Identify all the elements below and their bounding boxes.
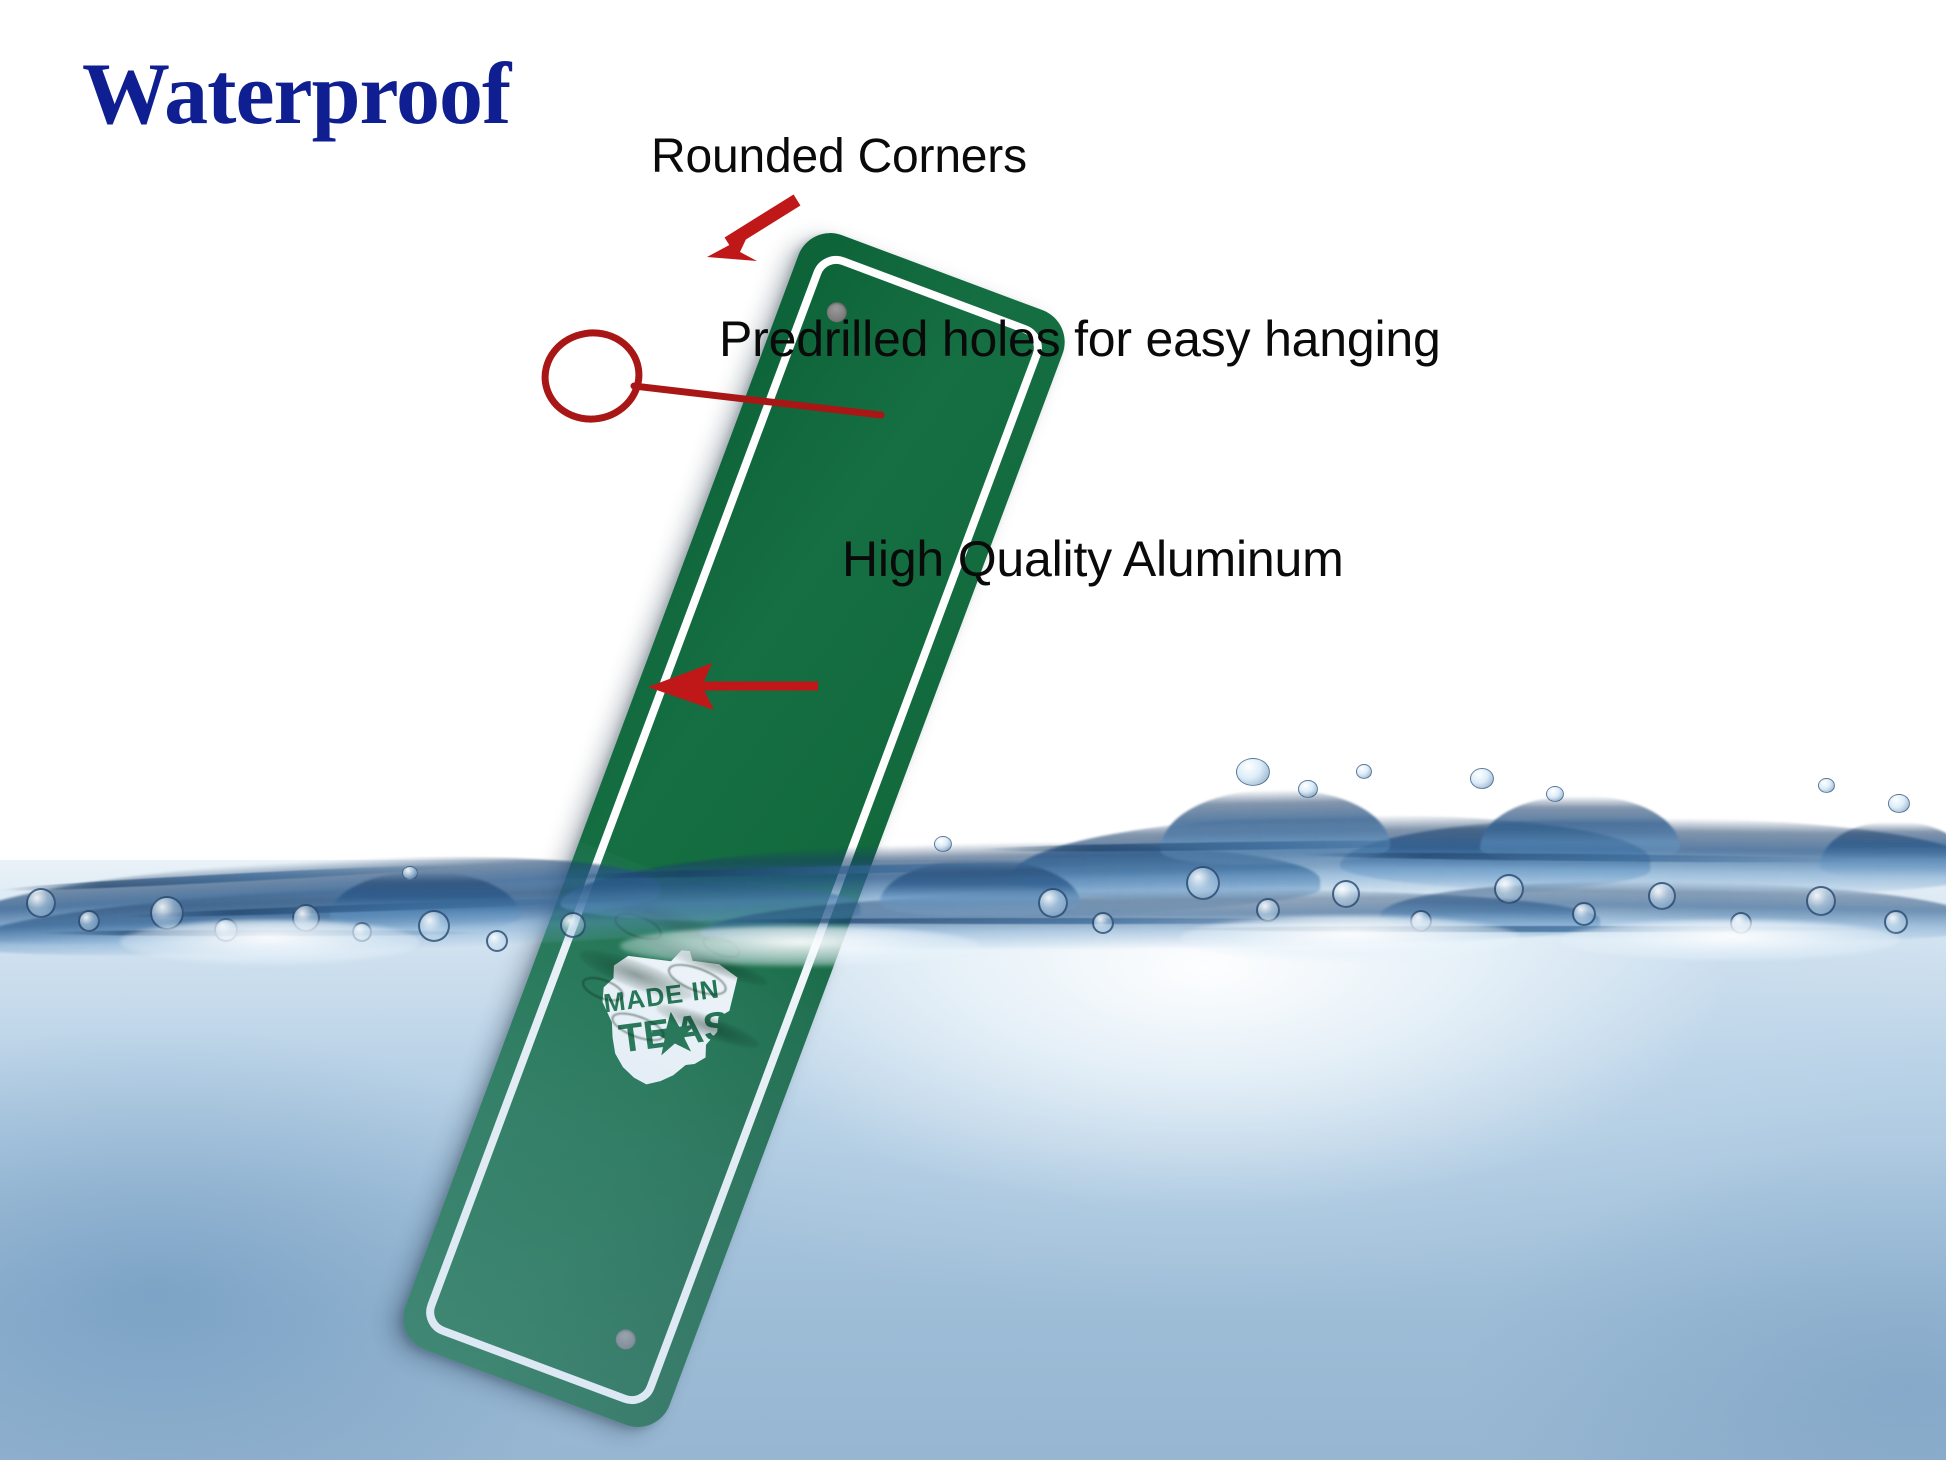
water-body — [0, 860, 1946, 1460]
callout-annotations — [0, 0, 1946, 1460]
predrilled-hole-bottom — [613, 1326, 639, 1352]
aluminum-sign: MADE IN TE AS — [425, 225, 1045, 1455]
callout-label-rounded-corners: Rounded Corners — [651, 129, 1027, 184]
sign-face: MADE IN TE AS — [394, 223, 1075, 1436]
rounded-corners-arrow — [707, 200, 797, 261]
sign-white-border — [419, 249, 1048, 1411]
water-surface-splash — [0, 770, 1946, 960]
made-in-texas-logo: MADE IN TE AS — [556, 904, 777, 1123]
callout-label-high-quality-aluminum: High Quality Aluminum — [842, 530, 1344, 588]
callout-label-predrilled-holes: Predrilled holes for easy hanging — [719, 310, 1441, 368]
page-title: Waterproof — [82, 44, 510, 145]
svg-text:AS: AS — [672, 1003, 733, 1054]
high-quality-aluminum-arrow — [648, 663, 818, 710]
svg-text:MADE IN: MADE IN — [602, 973, 722, 1018]
sign-submerged-portion — [394, 842, 844, 1437]
svg-text:TE: TE — [616, 1011, 672, 1061]
product-feature-callout-image: MADE IN TE AS — [0, 0, 1946, 1460]
